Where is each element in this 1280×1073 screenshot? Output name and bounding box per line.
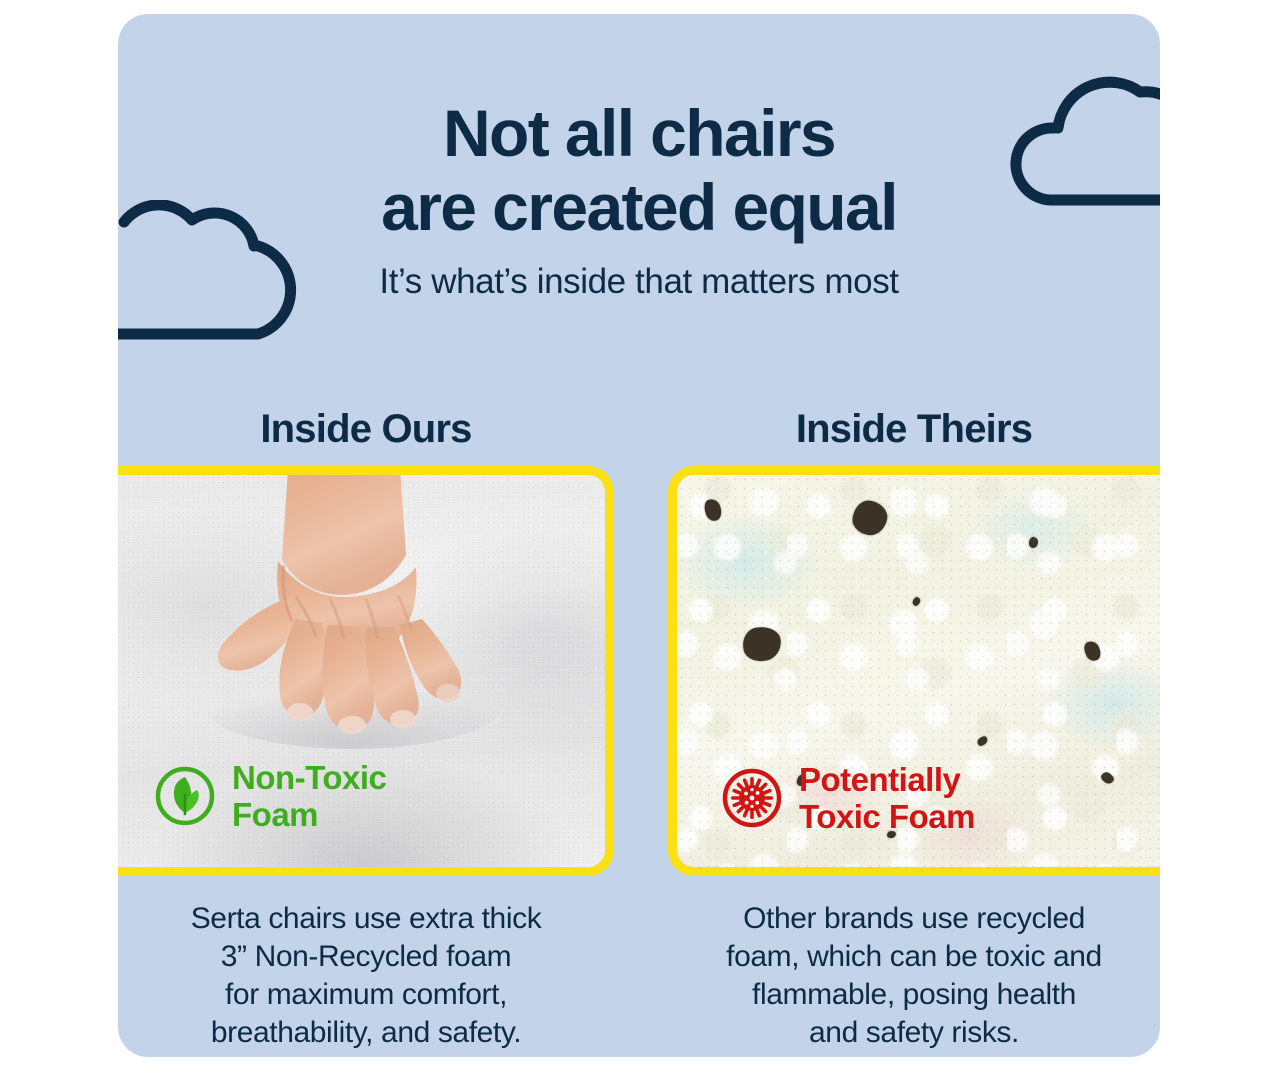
infographic-canvas: Not all chairs are created equal It’s wh…	[0, 0, 1280, 1073]
comparison-card-theirs: Potentially Toxic Foam	[668, 466, 1160, 876]
headline-line-1: Not all chairs	[118, 96, 1160, 170]
badge-label-potentially-toxic: Potentially Toxic Foam	[799, 761, 975, 835]
badge-potentially-toxic: Potentially Toxic Foam	[721, 761, 975, 835]
subtitle: It’s what’s inside that matters most	[118, 262, 1160, 302]
column-header-theirs: Inside Theirs	[668, 407, 1160, 452]
leaf-icon	[154, 765, 216, 827]
germ-icon	[721, 767, 783, 829]
caption-ours: Serta chairs use extra thick 3” Non-Recy…	[118, 900, 614, 1052]
badge-non-toxic: Non-Toxic Foam	[154, 759, 386, 833]
column-header-ours: Inside Ours	[118, 407, 614, 452]
comparison-card-ours: Non-Toxic Foam	[118, 466, 614, 876]
caption-theirs: Other brands use recycled foam, which ca…	[668, 900, 1160, 1052]
badge-label-non-toxic: Non-Toxic Foam	[232, 759, 386, 833]
headline-block: Not all chairs are created equal It’s wh…	[118, 96, 1160, 302]
headline-line-2: are created equal	[118, 170, 1160, 244]
comparison-panel: Not all chairs are created equal It’s wh…	[118, 14, 1160, 1057]
